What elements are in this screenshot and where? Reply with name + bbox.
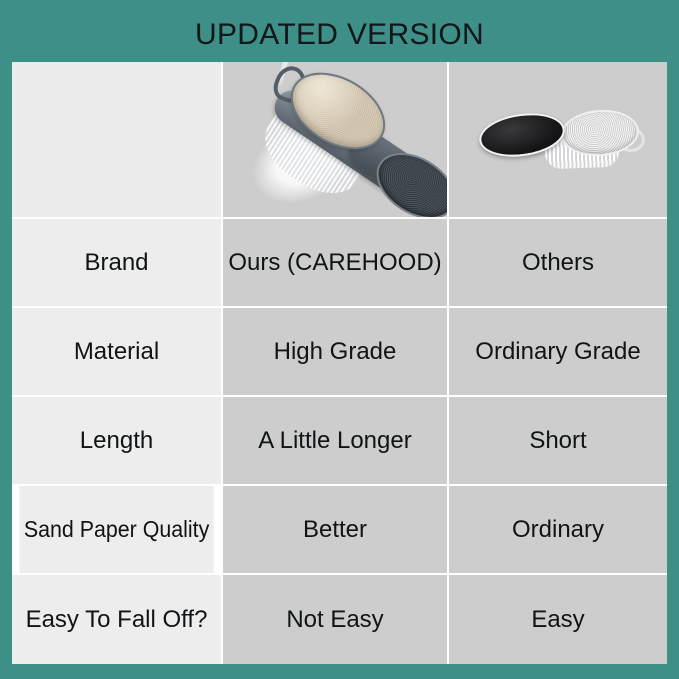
row-value-others-brand: Others [449, 219, 667, 306]
comparison-table: Brand Ours (CAREHOOD) Others Material Hi… [12, 62, 667, 664]
row-value-ours-easy-to-fall-off: Not Easy [223, 575, 449, 664]
table-row: Brand Ours (CAREHOOD) Others [12, 219, 667, 308]
row-value-others-sand-paper-quality: Ordinary [449, 486, 667, 573]
table-row: Material High Grade Ordinary Grade [12, 308, 667, 397]
row-label-length: Length [12, 397, 223, 484]
table-row: Easy To Fall Off? Not Easy Easy [12, 575, 667, 664]
row-label-sand-paper-quality: Sand Paper Quality [19, 486, 215, 573]
page-title: UPDATED VERSION [0, 18, 679, 52]
row-label-easy-to-fall-off: Easy To Fall Off? [12, 575, 223, 664]
table-row-product-images [12, 62, 667, 219]
row-value-others-length: Short [449, 397, 667, 484]
row-value-ours-sand-paper-quality: Better [223, 486, 449, 573]
header-cell-ours-image [223, 62, 449, 217]
row-value-others-material: Ordinary Grade [449, 308, 667, 395]
header-cell-others-image [449, 62, 667, 217]
row-label-brand: Brand [12, 219, 223, 306]
row-value-ours-brand: Ours (CAREHOOD) [223, 219, 449, 306]
others-product-image [449, 62, 667, 217]
header-cell-empty [12, 62, 223, 217]
ours-product-image [223, 62, 447, 217]
row-value-ours-material: High Grade [223, 308, 449, 395]
table-row: Sand Paper Quality Better Ordinary [12, 486, 667, 575]
table-row: Length A Little Longer Short [12, 397, 667, 486]
row-label-material: Material [12, 308, 223, 395]
row-value-ours-length: A Little Longer [223, 397, 449, 484]
comparison-poster: UPDATED VERSION [0, 0, 679, 679]
row-value-others-easy-to-fall-off: Easy [449, 575, 667, 664]
